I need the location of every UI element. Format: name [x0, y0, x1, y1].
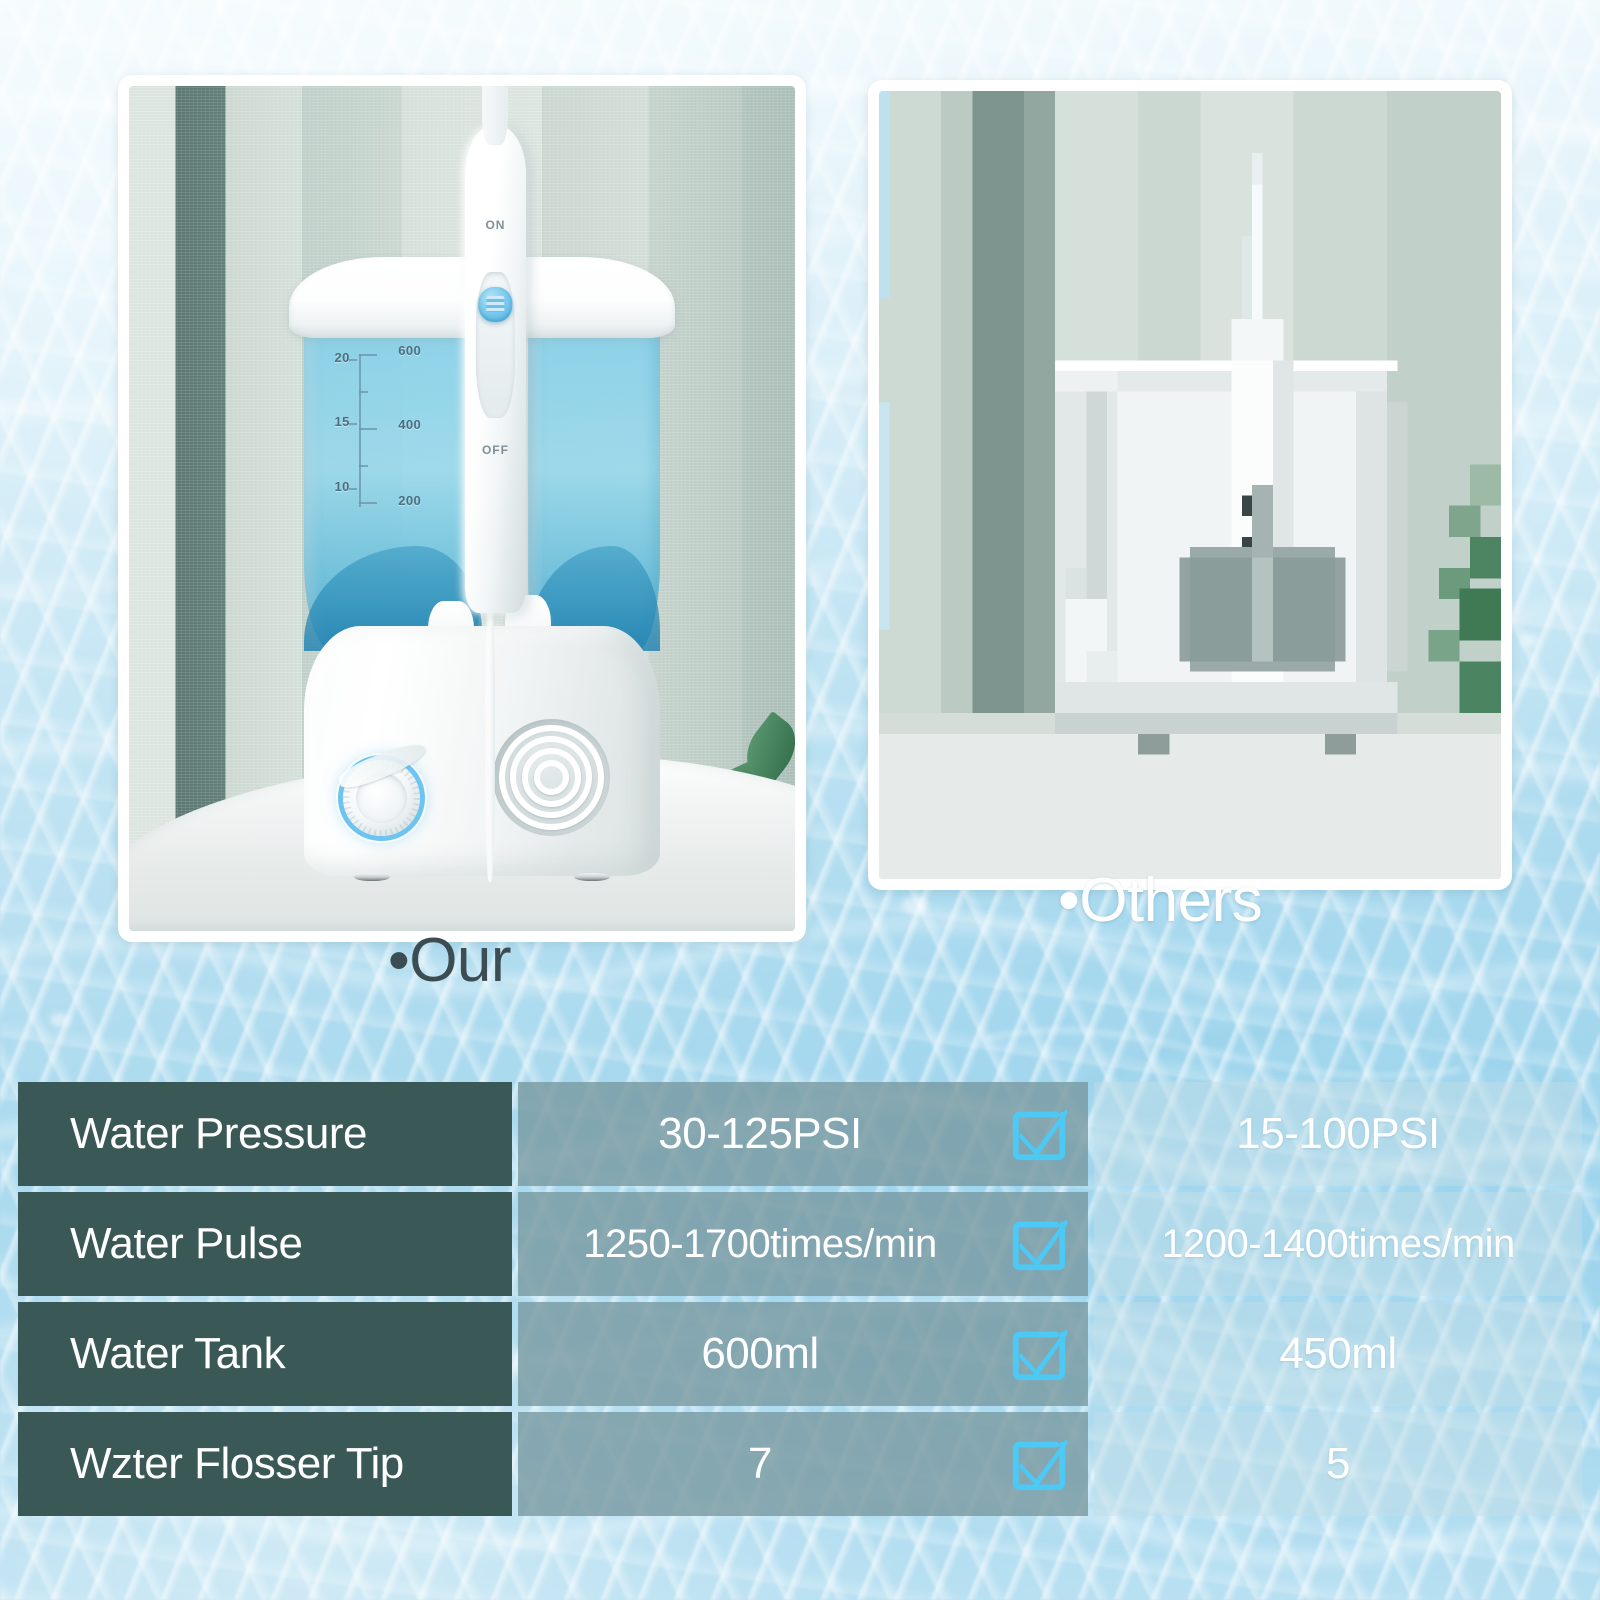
checkmark-icon [1008, 1213, 1070, 1275]
table-row: Water Tank 600ml 450ml [18, 1302, 1582, 1406]
scale-tick-15oz [349, 423, 357, 425]
scale-tick-600 [359, 354, 377, 356]
flosser-handle: ON OFF [465, 126, 527, 614]
scale-tick-500 [359, 391, 368, 393]
our-water-flosser-device: OZ. ML. 600 400 200 20 15 10 [289, 251, 675, 876]
tank-mark-200: 200 [398, 493, 421, 508]
device-base [304, 626, 659, 876]
hose-storage-well [493, 719, 610, 836]
our-caption: •Our [388, 925, 511, 996]
spec-others-cell: 450ml [1094, 1302, 1582, 1406]
our-product-photo: OZ. ML. 600 400 200 20 15 10 [129, 86, 795, 931]
spec-our-value: 30-125PSI [658, 1109, 861, 1159]
water-tank-right [528, 301, 659, 651]
spec-our-cell: 30-125PSI [518, 1082, 1088, 1186]
scale-spine [359, 354, 361, 507]
checkmark-icon [1008, 1323, 1070, 1385]
hose-coil [534, 760, 569, 795]
our-product-photo-card: OZ. ML. 600 400 200 20 15 10 [118, 75, 806, 942]
spec-others-cell: 5 [1094, 1412, 1582, 1516]
pixelated-competitor-image [879, 91, 1501, 879]
checkmark-icon [1008, 1433, 1070, 1495]
table-row: Wzter Flosser Tip 7 5 [18, 1412, 1582, 1516]
tank-mark-15oz: 15 [334, 414, 349, 429]
device-foot-right [574, 873, 610, 882]
spec-our-value: 1250-1700times/min [583, 1222, 936, 1267]
spec-our-cell: 600ml [518, 1302, 1088, 1406]
spec-others-cell: 15-100PSI [1094, 1082, 1582, 1186]
specification-comparison-table: Water Pressure 30-125PSI 15-100PSI Water… [18, 1082, 1582, 1516]
table-row: Water Pressure 30-125PSI 15-100PSI [18, 1082, 1582, 1186]
scale-tick-200 [359, 502, 377, 504]
scale-tick-20oz [349, 359, 357, 361]
switch-off-label: OFF [482, 443, 509, 457]
table-row: Water Pulse 1250-1700times/min 1200-1400… [18, 1192, 1582, 1296]
water-tank-left: OZ. ML. 600 400 200 20 15 10 [304, 301, 482, 651]
scale-tick-300 [359, 465, 368, 467]
tank-mark-400: 400 [398, 417, 421, 432]
tank-mark-20oz: 20 [334, 350, 349, 365]
tank-mark-600: 600 [398, 343, 421, 358]
spec-our-cell: 7 [518, 1412, 1088, 1516]
spec-others-cell: 1200-1400times/min [1094, 1192, 1582, 1296]
switch-on-label: ON [485, 218, 505, 232]
device-foot-left [354, 873, 390, 882]
others-product-photo [879, 91, 1501, 879]
spec-label-cell: Wzter Flosser Tip [18, 1412, 512, 1516]
scale-tick-400 [359, 428, 377, 430]
water-hose-tube [485, 595, 495, 883]
spec-label-cell: Water Tank [18, 1302, 512, 1406]
scale-tick-10oz [349, 488, 357, 490]
spec-label-cell: Water Pressure [18, 1082, 512, 1186]
spec-our-cell: 1250-1700times/min [518, 1192, 1088, 1296]
handle-neck [482, 86, 508, 145]
power-switch-knob[interactable] [479, 287, 512, 322]
spec-our-value: 7 [748, 1439, 772, 1489]
tank-measurement-scale: OZ. ML. 600 400 200 20 15 10 [334, 322, 416, 553]
checkmark-icon [1008, 1103, 1070, 1165]
others-product-photo-card [868, 80, 1512, 890]
spec-label-cell: Water Pulse [18, 1192, 512, 1296]
tank-mark-10oz: 10 [334, 479, 349, 494]
others-caption: •Others [1058, 865, 1262, 936]
spec-our-value: 600ml [701, 1329, 818, 1379]
